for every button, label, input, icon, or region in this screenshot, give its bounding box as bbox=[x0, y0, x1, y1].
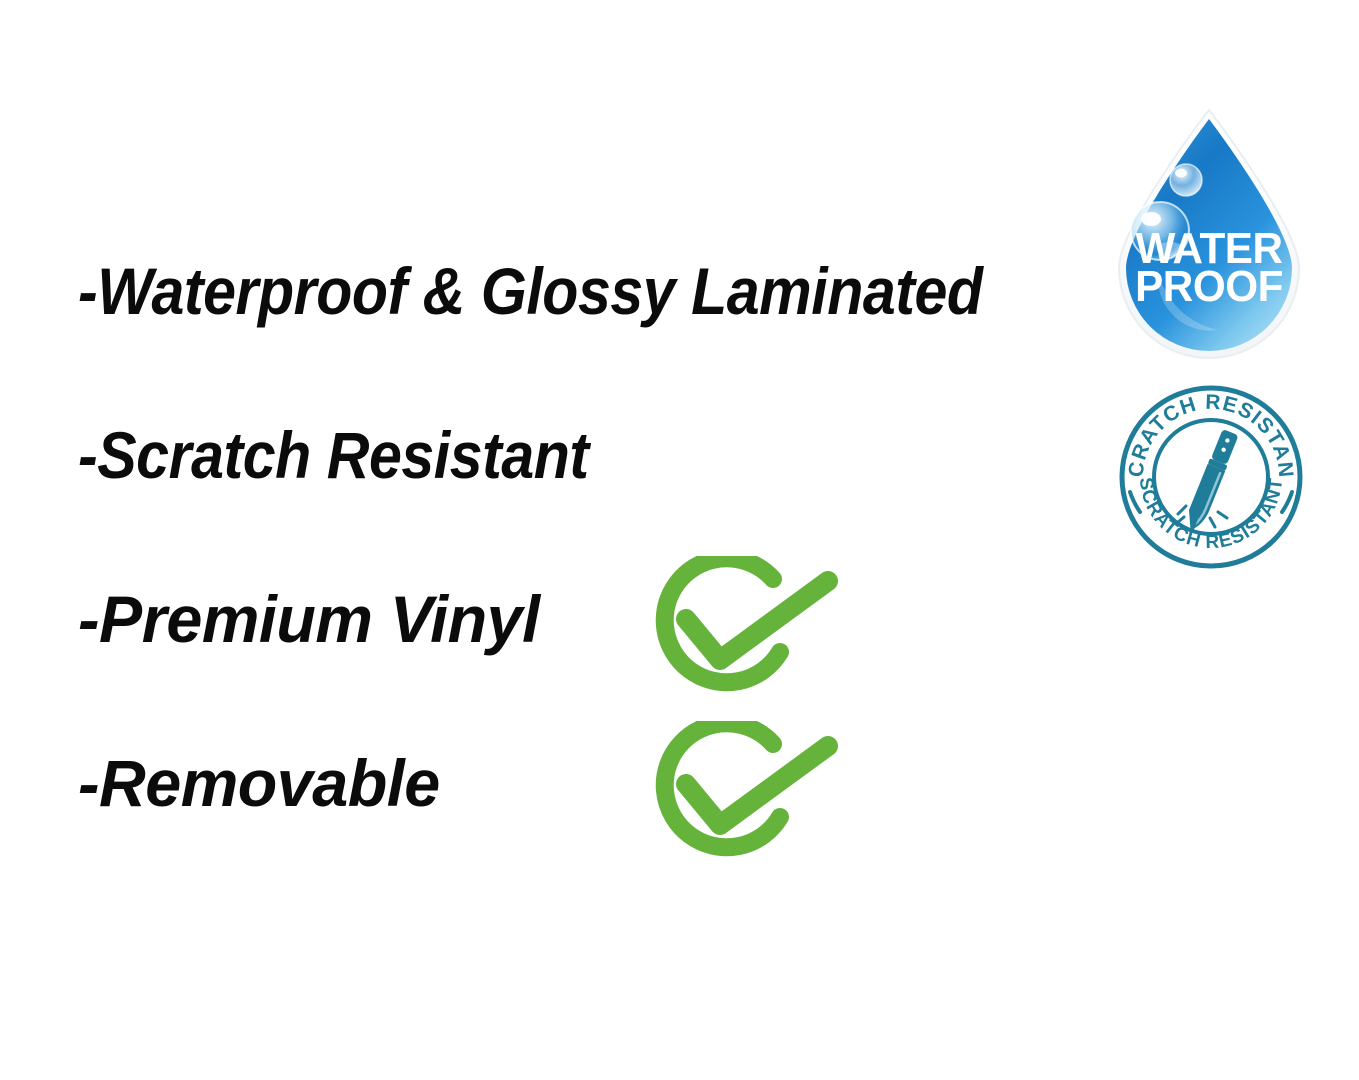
feature-item-premium-vinyl: -Premium Vinyl bbox=[78, 586, 1098, 750]
feature-item-removable: -Removable bbox=[78, 750, 1098, 914]
knife-seal-icon: SCRATCH RESISTANT SCRATCH RESISTANT bbox=[1118, 384, 1304, 570]
feature-item-scratch-resistant: -Scratch Resistant bbox=[78, 422, 1098, 586]
check-circle-icon-premium-vinyl bbox=[638, 556, 838, 712]
feature-item-waterproof-glossy-laminated: -Waterproof & Glossy Laminated bbox=[78, 258, 1098, 422]
scratch-resistant-badge: SCRATCH RESISTANT SCRATCH RESISTANT bbox=[1118, 384, 1304, 570]
feature-label: -Premium Vinyl bbox=[78, 586, 540, 652]
feature-list: -Waterproof & Glossy Laminated -Scratch … bbox=[78, 258, 1098, 914]
feature-label: -Scratch Resistant bbox=[78, 422, 589, 488]
feature-graphic-canvas: -Waterproof & Glossy Laminated -Scratch … bbox=[0, 0, 1359, 1080]
water-drop-icon bbox=[1098, 108, 1320, 360]
waterproof-badge: WATER PROOF bbox=[1098, 108, 1320, 360]
check-circle-icon-removable bbox=[638, 721, 838, 877]
feature-label: -Waterproof & Glossy Laminated bbox=[78, 258, 983, 324]
feature-label: -Removable bbox=[78, 750, 440, 816]
